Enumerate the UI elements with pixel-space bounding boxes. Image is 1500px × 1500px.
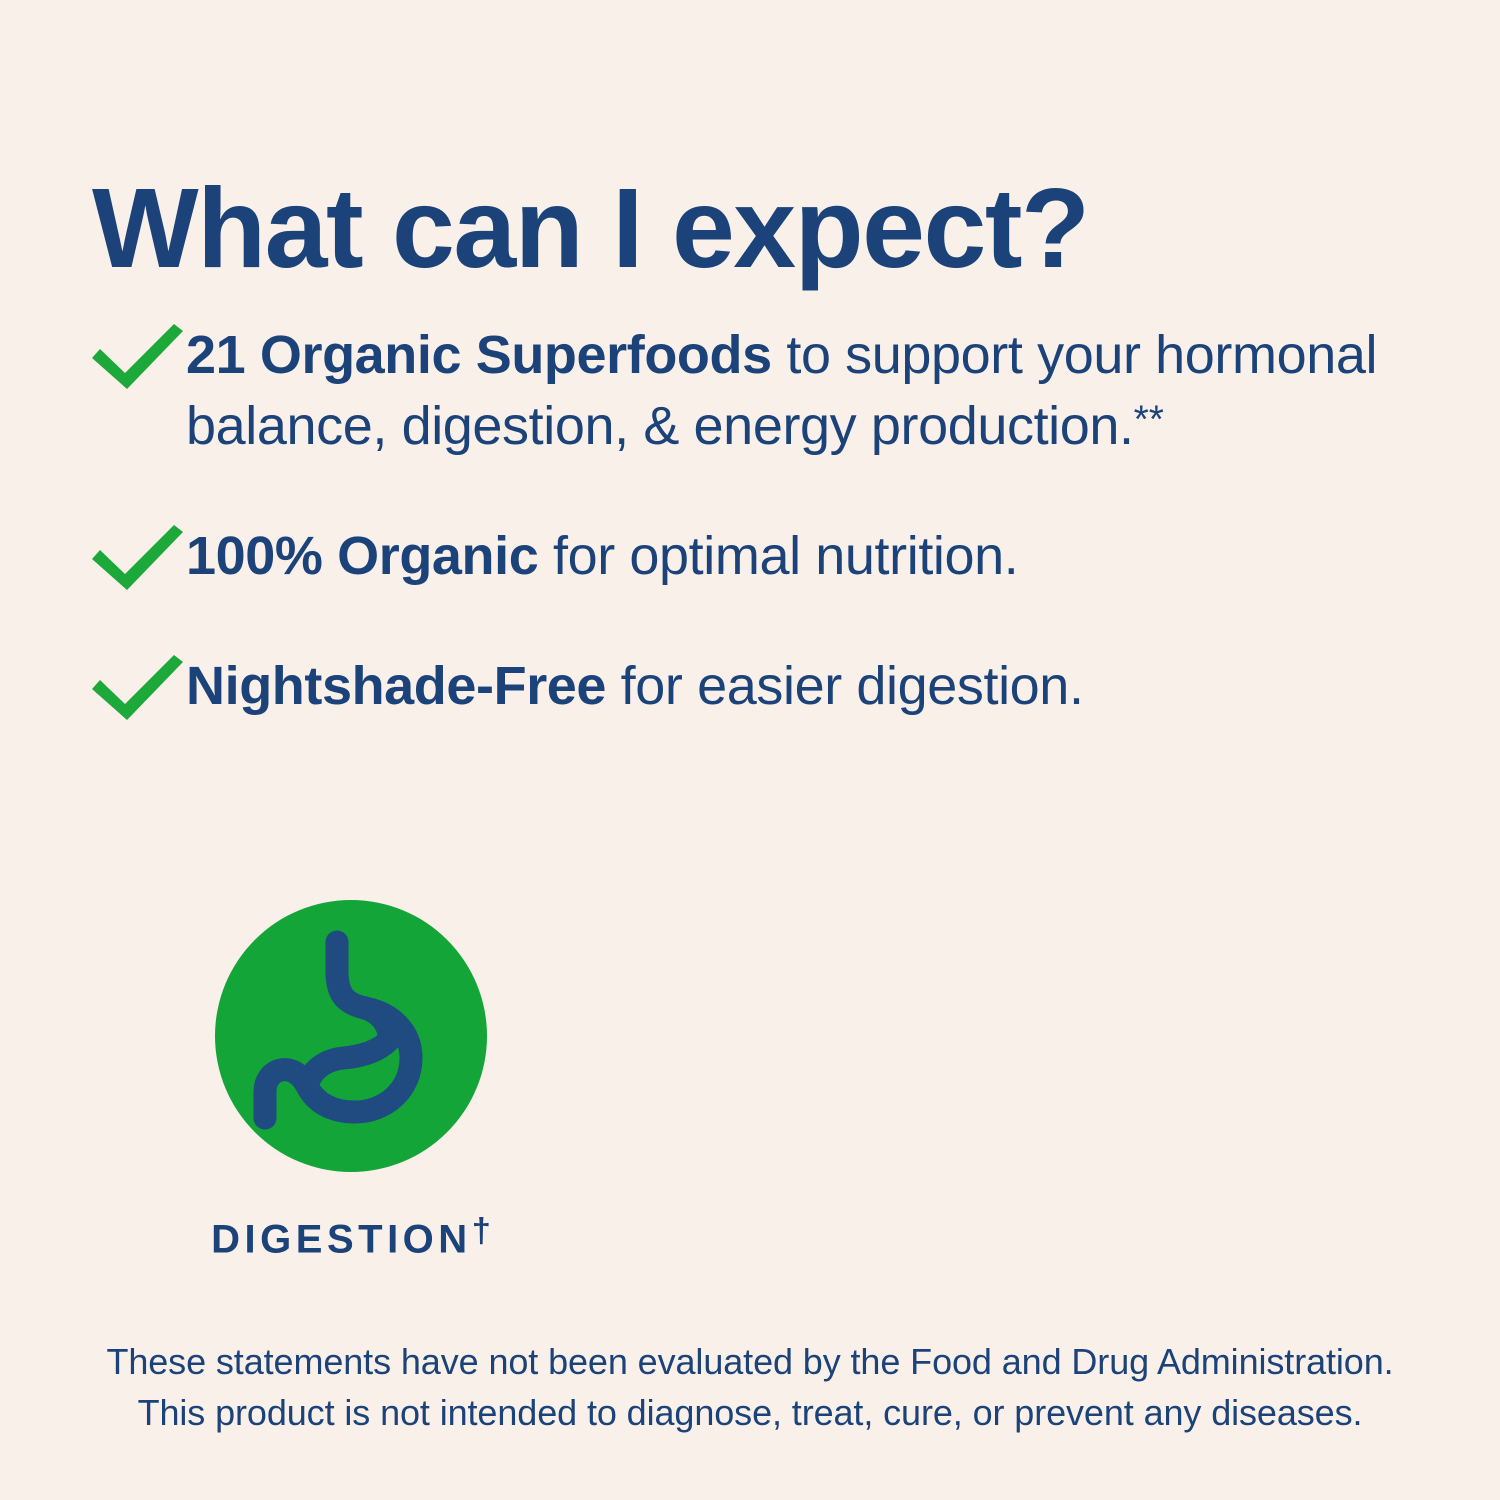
disclaimer-line-1: These statements have not been evaluated… — [50, 1336, 1450, 1387]
list-item-text: Nightshade-Free for easier digestion. — [186, 649, 1428, 722]
list-item: 100% Organic for optimal nutrition. — [88, 519, 1428, 593]
list-item-highlight: 100% Organic — [186, 526, 538, 586]
promo-panel: What can I expect? 21 Organic Superfoods… — [0, 0, 1500, 1500]
list-item: 21 Organic Superfoods to support your ho… — [88, 318, 1428, 463]
list-item-text: 100% Organic for optimal nutrition. — [186, 519, 1428, 592]
list-item: Nightshade-Free for easier digestion. — [88, 649, 1428, 723]
list-item-highlight: 21 Organic Superfoods — [186, 325, 772, 385]
benefits-list: 21 Organic Superfoods to support your ho… — [88, 318, 1428, 723]
digestion-badge-label: DIGESTION† — [163, 1214, 539, 1259]
digestion-badge-label-text: DIGESTION — [211, 1217, 472, 1261]
stomach-digestion-icon — [215, 900, 487, 1172]
green-check-icon — [88, 523, 186, 593]
disclaimer-line-2: This product is not intended to diagnose… — [50, 1387, 1450, 1438]
green-check-icon — [88, 322, 186, 392]
digestion-badge: DIGESTION† — [163, 900, 539, 1259]
list-item-text: 21 Organic Superfoods to support your ho… — [186, 318, 1428, 463]
fda-disclaimer: These statements have not been evaluated… — [50, 1336, 1450, 1438]
green-check-icon — [88, 653, 186, 723]
dagger-footnote-marker: † — [472, 1212, 491, 1250]
list-item-highlight: Nightshade-Free — [186, 656, 606, 716]
page-title: What can I expect? — [92, 172, 1412, 285]
footnote-marker: ** — [1134, 399, 1164, 442]
list-item-body: for optimal nutrition. — [538, 526, 1018, 586]
list-item-body: for easier digestion. — [606, 656, 1083, 716]
